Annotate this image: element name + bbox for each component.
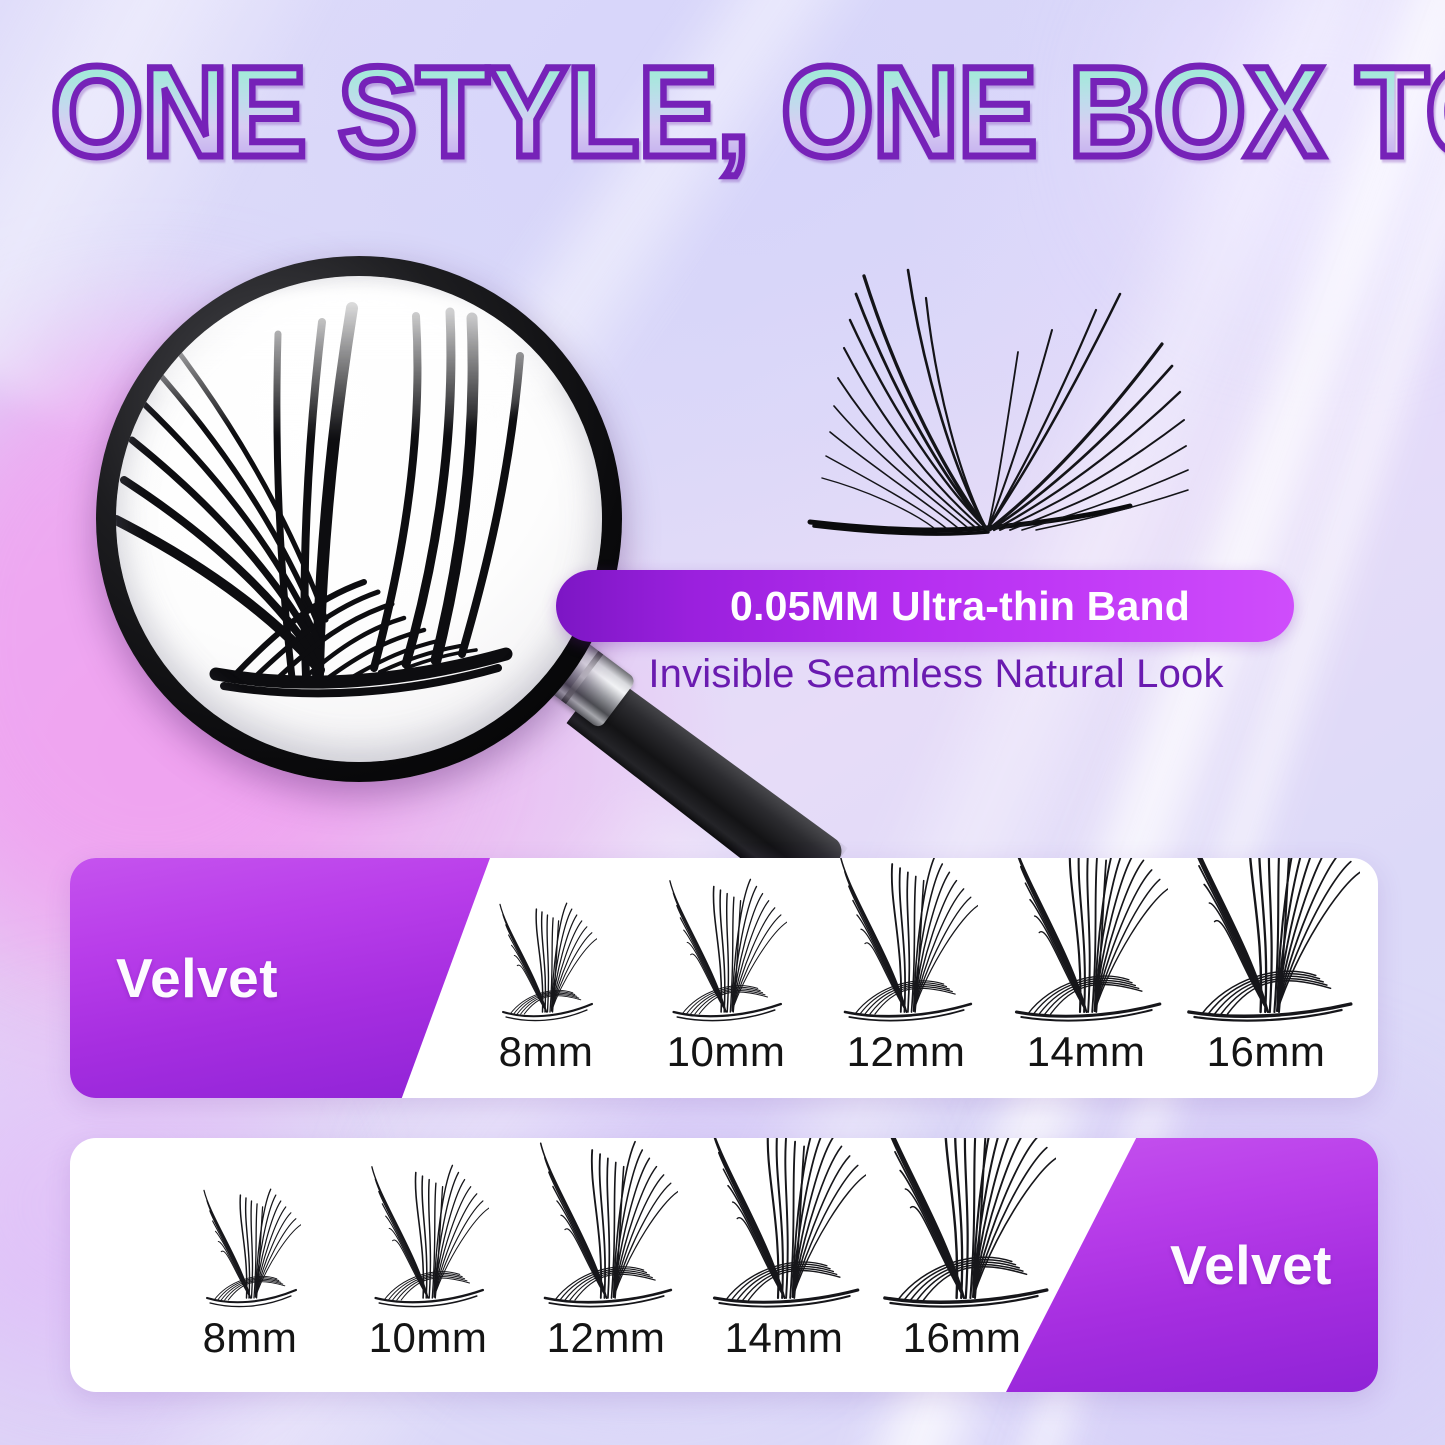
size-panel-top: 8mm 10mm 12mm 14mm 16mm Velvet	[70, 858, 1378, 1098]
magnifier-lens	[116, 276, 602, 762]
magnifier-rim	[96, 256, 622, 782]
brand-tag: Velvet	[70, 858, 490, 1098]
brand-tag: Velvet	[1006, 1138, 1378, 1392]
feature-badge: 0.05MM Ultra-thin Band	[556, 570, 1294, 642]
panel-tag-wrap: Velvet	[70, 1138, 1378, 1392]
size-panel-bottom: 8mm 10mm 12mm 14mm 16mm Velvet	[70, 1138, 1378, 1392]
lens-glare	[142, 288, 562, 438]
page-title: ONE STYLE, ONE BOX TO SHINE	[51, 54, 1395, 172]
feature-subtitle: Invisible Seamless Natural Look	[556, 652, 1316, 697]
status-badge: 0.05MM Ultra-thin Band	[730, 583, 1190, 630]
magnifying-glass-icon	[96, 256, 916, 876]
brand-tag-label: Velvet	[1170, 1233, 1332, 1297]
panel-tag-wrap: Velvet	[70, 858, 1378, 1098]
promo-graphic: ONE STYLE, ONE BOX TO SHINE	[0, 0, 1445, 1445]
brand-tag-label: Velvet	[116, 946, 278, 1010]
